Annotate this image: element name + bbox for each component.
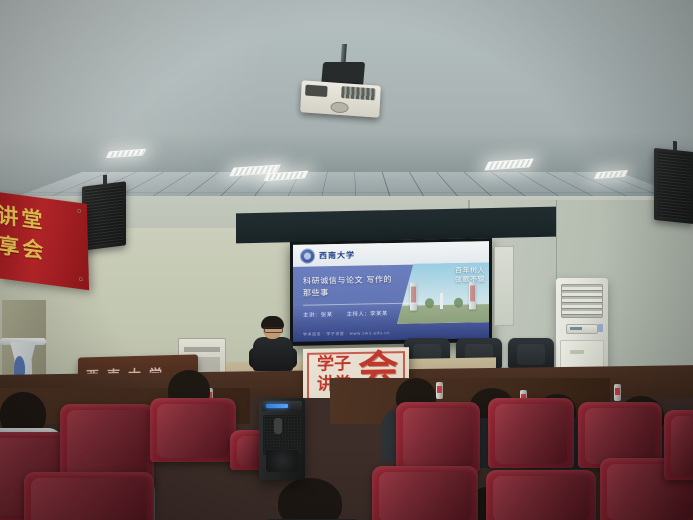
seat[interactable] <box>372 466 478 520</box>
cabinet-slot <box>184 347 220 352</box>
banner-eyelet <box>79 277 83 282</box>
seat-cushion <box>403 408 473 468</box>
speaker-bracket <box>103 175 107 185</box>
slide-photo-caption: 百年树人 弦歌不辍 <box>455 267 485 286</box>
seat[interactable] <box>24 472 154 520</box>
ac-control-panel[interactable] <box>566 324 598 334</box>
seat-cushion <box>585 408 655 464</box>
wall-speaker-left <box>82 181 126 250</box>
seat-cushion <box>31 478 147 520</box>
projector-lens-icon <box>330 101 349 113</box>
light-diffuser <box>595 171 626 178</box>
seat-cushion <box>157 404 229 458</box>
ac-louvers <box>561 284 603 318</box>
portable-pa-speaker[interactable] <box>259 398 305 480</box>
left-banner-text: 讲堂 享会 <box>0 200 47 267</box>
slide-footer: 学术诚信 · 学子讲堂 · www.swu.edu.cn <box>303 330 390 338</box>
seat-cushion <box>495 404 567 464</box>
stage-chair-3 <box>508 338 554 368</box>
slide-host-label: 主持人：李某某 <box>347 309 388 318</box>
calligraphy-small-line-1: 学子 <box>311 354 357 375</box>
seat[interactable] <box>664 410 693 480</box>
presentation-slide: 西南大学 百年树人 弦歌不辍 科研诚信与论文 写作的 那些事 <box>293 241 489 342</box>
speaker-grill <box>85 185 123 248</box>
seat[interactable] <box>488 398 574 468</box>
pa-display-icon <box>266 404 288 408</box>
left-red-banner: 讲堂 享会 <box>0 192 89 290</box>
left-banner-line-2: 享会 <box>0 230 47 266</box>
seat-cushion <box>493 476 589 520</box>
water-bottle <box>614 384 621 401</box>
projector-vent <box>305 85 328 97</box>
water-bottle <box>436 382 443 399</box>
seat[interactable] <box>396 402 480 472</box>
presenter <box>252 318 294 370</box>
ceiling-projector <box>300 80 381 117</box>
seat[interactable] <box>486 470 596 520</box>
speaker-grill <box>657 151 691 221</box>
photo-tree <box>425 298 434 308</box>
presenter-torso <box>253 337 293 371</box>
pa-grill <box>263 415 301 455</box>
slide-university-name: 西南大学 <box>319 250 355 262</box>
wall-seam <box>556 200 557 290</box>
projector-ports <box>341 86 376 100</box>
side-wall-board <box>494 246 514 326</box>
projection-screen[interactable]: 西南大学 百年树人 弦歌不辍 科研诚信与论文 写作的 那些事 <box>290 238 492 346</box>
pa-woofer <box>266 450 298 472</box>
lecture-hall-photo: 西南大学 百年树人 弦歌不辍 科研诚信与论文 写作的 那些事 <box>0 0 693 520</box>
wall-speaker-right <box>654 148 693 224</box>
seat-cushion <box>671 416 693 476</box>
ac-indicator-icon <box>598 324 603 332</box>
banner-eyelet <box>77 209 81 214</box>
slide-title: 科研诚信与论文 写作的 那些事 <box>303 274 411 300</box>
slide-title-line-2: 那些事 <box>303 286 411 300</box>
glasses-icon <box>264 327 283 333</box>
photo-gate-pillar-right <box>469 282 476 310</box>
seat-cushion <box>379 472 471 520</box>
ac-brand-logo <box>570 350 584 354</box>
seat[interactable] <box>150 398 236 462</box>
audience-member-head <box>278 478 342 520</box>
caption-line-2: 弦歌不辍 <box>455 276 485 286</box>
slide-presenter-label: 主讲：张某 <box>303 310 333 319</box>
microphone-icon <box>274 418 282 434</box>
speaker-bracket <box>673 141 677 151</box>
photo-monument <box>440 293 443 309</box>
